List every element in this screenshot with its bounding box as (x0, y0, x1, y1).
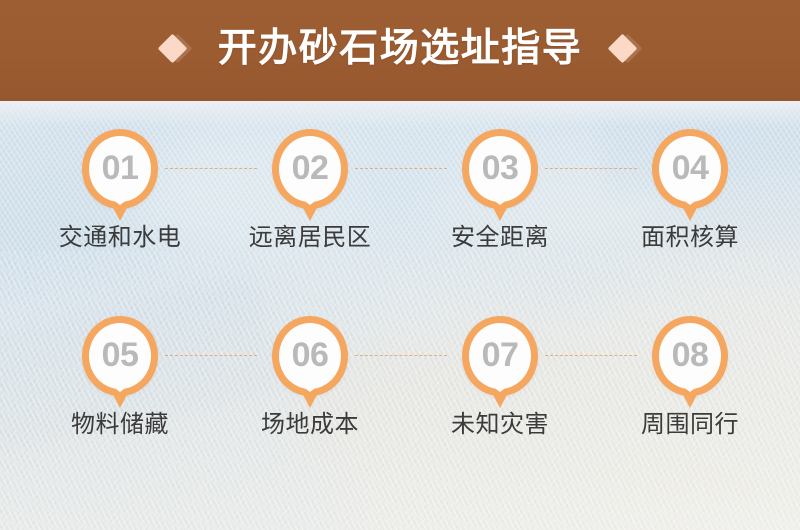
map-pin-icon: 08 (652, 316, 728, 408)
steps-row-bottom: 05 物料储藏 06 场地成本 07 未知灾害 (0, 316, 800, 506)
step-label: 物料储藏 (25, 404, 215, 439)
map-pin-icon: 07 (462, 316, 538, 408)
map-pin-icon: 02 (272, 129, 348, 221)
step-label: 场地成本 (215, 404, 405, 439)
step-item-04[interactable]: 04 面积核算 (595, 129, 785, 252)
map-pin-icon: 04 (652, 129, 728, 221)
step-label: 远离居民区 (215, 217, 405, 252)
map-pin-icon: 03 (462, 129, 538, 221)
step-number: 07 (482, 338, 519, 372)
steps-row-top: 01 交通和水电 02 远离居民区 03 安全距离 (0, 129, 800, 319)
infographic-poster: 开办砂石场选址指导 01 交通和水电 02 (0, 0, 800, 530)
step-label: 未知灾害 (405, 404, 595, 439)
step-label: 交通和水电 (25, 217, 215, 252)
step-number: 06 (292, 338, 329, 372)
step-item-06[interactable]: 06 场地成本 (215, 316, 405, 439)
step-number: 08 (672, 338, 709, 372)
step-label: 周围同行 (595, 404, 785, 439)
map-pin-icon: 05 (82, 316, 158, 408)
step-label: 安全距离 (405, 217, 595, 252)
map-pin-icon: 06 (272, 316, 348, 408)
page-title: 开办砂石场选址指导 (218, 29, 583, 68)
step-label: 面积核算 (595, 217, 785, 252)
step-item-08[interactable]: 08 周围同行 (595, 316, 785, 439)
step-number: 02 (292, 151, 329, 185)
step-number: 01 (102, 151, 139, 185)
step-item-07[interactable]: 07 未知灾害 (405, 316, 595, 439)
step-item-02[interactable]: 02 远离居民区 (215, 129, 405, 252)
map-pin-icon: 01 (82, 129, 158, 221)
step-item-01[interactable]: 01 交通和水电 (25, 129, 215, 252)
step-number: 04 (672, 151, 709, 185)
step-number: 03 (482, 151, 519, 185)
header-banner: 开办砂石场选址指导 (0, 0, 800, 101)
step-number: 05 (102, 338, 139, 372)
diamond-icon (610, 34, 640, 64)
step-item-03[interactable]: 03 安全距离 (405, 129, 595, 252)
step-item-05[interactable]: 05 物料储藏 (25, 316, 215, 439)
steps-grid: 01 交通和水电 02 远离居民区 03 安全距离 (0, 101, 800, 530)
diamond-icon (160, 34, 190, 64)
